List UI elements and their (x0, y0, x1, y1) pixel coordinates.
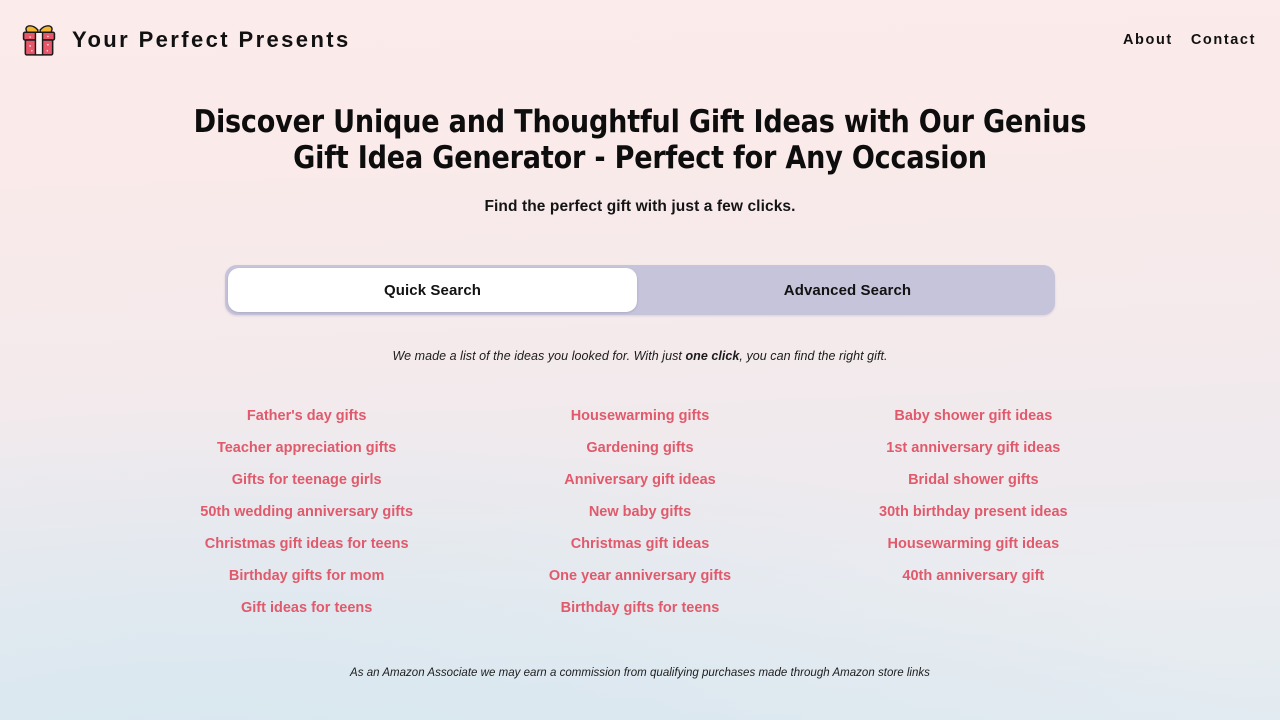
tab-quick-search[interactable]: Quick Search (228, 268, 637, 312)
blurb-part-1: We made a list of the ideas you looked f… (392, 349, 685, 363)
gift-box-icon (20, 21, 58, 59)
gift-link[interactable]: 50th wedding anniversary gifts (200, 496, 413, 528)
gift-link[interactable]: Housewarming gifts (571, 400, 710, 432)
link-column-3: Baby shower gift ideas 1st anniversary g… (807, 400, 1140, 624)
tab-advanced-search[interactable]: Advanced Search (640, 265, 1055, 315)
link-column-1: Father's day gifts Teacher appreciation … (140, 400, 473, 624)
nav-link-contact[interactable]: Contact (1191, 32, 1256, 48)
page-title: Discover Unique and Thoughtful Gift Idea… (179, 104, 1101, 176)
amazon-affiliate-disclosure: As an Amazon Associate we may earn a com… (350, 667, 930, 679)
search-mode-tabs: Quick Search Advanced Search (225, 265, 1055, 315)
site-footer: As an Amazon Associate we may earn a com… (0, 667, 1280, 679)
gift-link[interactable]: Father's day gifts (247, 400, 366, 432)
gift-link[interactable]: Gardening gifts (586, 432, 693, 464)
blurb-emphasis: one click (685, 349, 739, 363)
gift-link[interactable]: New baby gifts (589, 496, 691, 528)
gift-link[interactable]: Birthday gifts for mom (229, 560, 384, 592)
hero-subtitle: Find the perfect gift with just a few cl… (0, 198, 1280, 216)
gift-link[interactable]: 1st anniversary gift ideas (886, 432, 1060, 464)
gift-link[interactable]: Christmas gift ideas (571, 528, 710, 560)
gift-link[interactable]: One year anniversary gifts (549, 560, 731, 592)
gift-idea-link-grid: Father's day gifts Teacher appreciation … (140, 400, 1140, 624)
nav-link-about[interactable]: About (1123, 32, 1173, 48)
search-mode-tabs-wrapper: Quick Search Advanced Search (225, 265, 1055, 315)
brand[interactable]: Your Perfect Presents (20, 21, 351, 59)
link-column-2: Housewarming gifts Gardening gifts Anniv… (473, 400, 806, 624)
gift-link[interactable]: Birthday gifts for teens (561, 592, 720, 624)
site-header: Your Perfect Presents About Contact (0, 0, 1280, 80)
gift-link[interactable]: Baby shower gift ideas (894, 400, 1052, 432)
hero-section: Discover Unique and Thoughtful Gift Idea… (0, 104, 1280, 216)
main-nav: About Contact (1123, 32, 1256, 48)
gift-link[interactable]: 40th anniversary gift (902, 560, 1044, 592)
gift-link[interactable]: Bridal shower gifts (908, 464, 1039, 496)
gift-link[interactable]: Gifts for teenage girls (232, 464, 382, 496)
gift-link[interactable]: Christmas gift ideas for teens (205, 528, 409, 560)
gift-link[interactable]: 30th birthday present ideas (879, 496, 1068, 528)
brand-name: Your Perfect Presents (72, 27, 351, 53)
blurb-text: We made a list of the ideas you looked f… (0, 349, 1280, 363)
blurb-part-2: , you can find the right gift. (739, 349, 887, 363)
gift-link[interactable]: Teacher appreciation gifts (217, 432, 396, 464)
gift-link[interactable]: Anniversary gift ideas (564, 464, 716, 496)
gift-link[interactable]: Housewarming gift ideas (888, 528, 1060, 560)
gift-link[interactable]: Gift ideas for teens (241, 592, 372, 624)
